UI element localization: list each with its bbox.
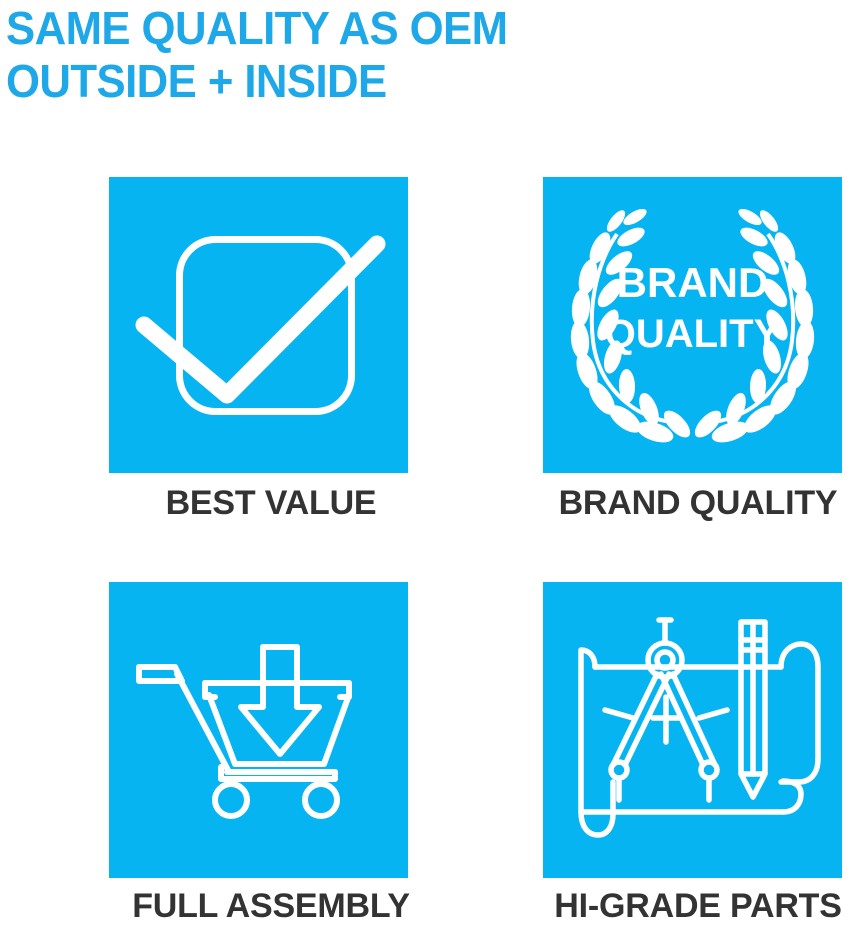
laurel-wreath-icon: BRAND QUALITY bbox=[543, 177, 842, 473]
feature-grid: BEST VALUE bbox=[0, 163, 862, 929]
feature-card-full-assembly[interactable]: FULL ASSEMBLY bbox=[95, 568, 447, 929]
blueprint-compass-pencil-icon bbox=[543, 582, 842, 878]
shopping-cart-download-icon bbox=[109, 582, 408, 878]
feature-card-brand-quality[interactable]: BRAND QUALITY BRAND QUALITY bbox=[508, 163, 860, 546]
feature-card-best-value[interactable]: BEST VALUE bbox=[95, 163, 447, 546]
page-title: SAME QUALITY AS OEM OUTSIDE + INSIDE bbox=[6, 2, 862, 108]
feature-card-hi-grade-parts[interactable]: HI-GRADE PARTS bbox=[508, 568, 860, 929]
feature-label-best-value: BEST VALUE bbox=[95, 483, 447, 523]
wreath-quality-text: QUALITY bbox=[605, 312, 781, 356]
checkbox-check-icon bbox=[109, 177, 408, 473]
wreath-brand-text: BRAND bbox=[617, 259, 769, 306]
feature-label-full-assembly: FULL ASSEMBLY bbox=[95, 886, 447, 926]
headline-line-2: OUTSIDE + INSIDE bbox=[6, 55, 819, 108]
feature-label-hi-grade-parts: HI-GRADE PARTS bbox=[522, 886, 862, 926]
download-arrow bbox=[241, 647, 319, 754]
promo-graphic-page: SAME QUALITY AS OEM OUTSIDE + INSIDE BES… bbox=[0, 0, 862, 929]
headline-line-1: SAME QUALITY AS OEM bbox=[6, 2, 819, 55]
feature-label-brand-quality: BRAND QUALITY bbox=[522, 483, 862, 523]
